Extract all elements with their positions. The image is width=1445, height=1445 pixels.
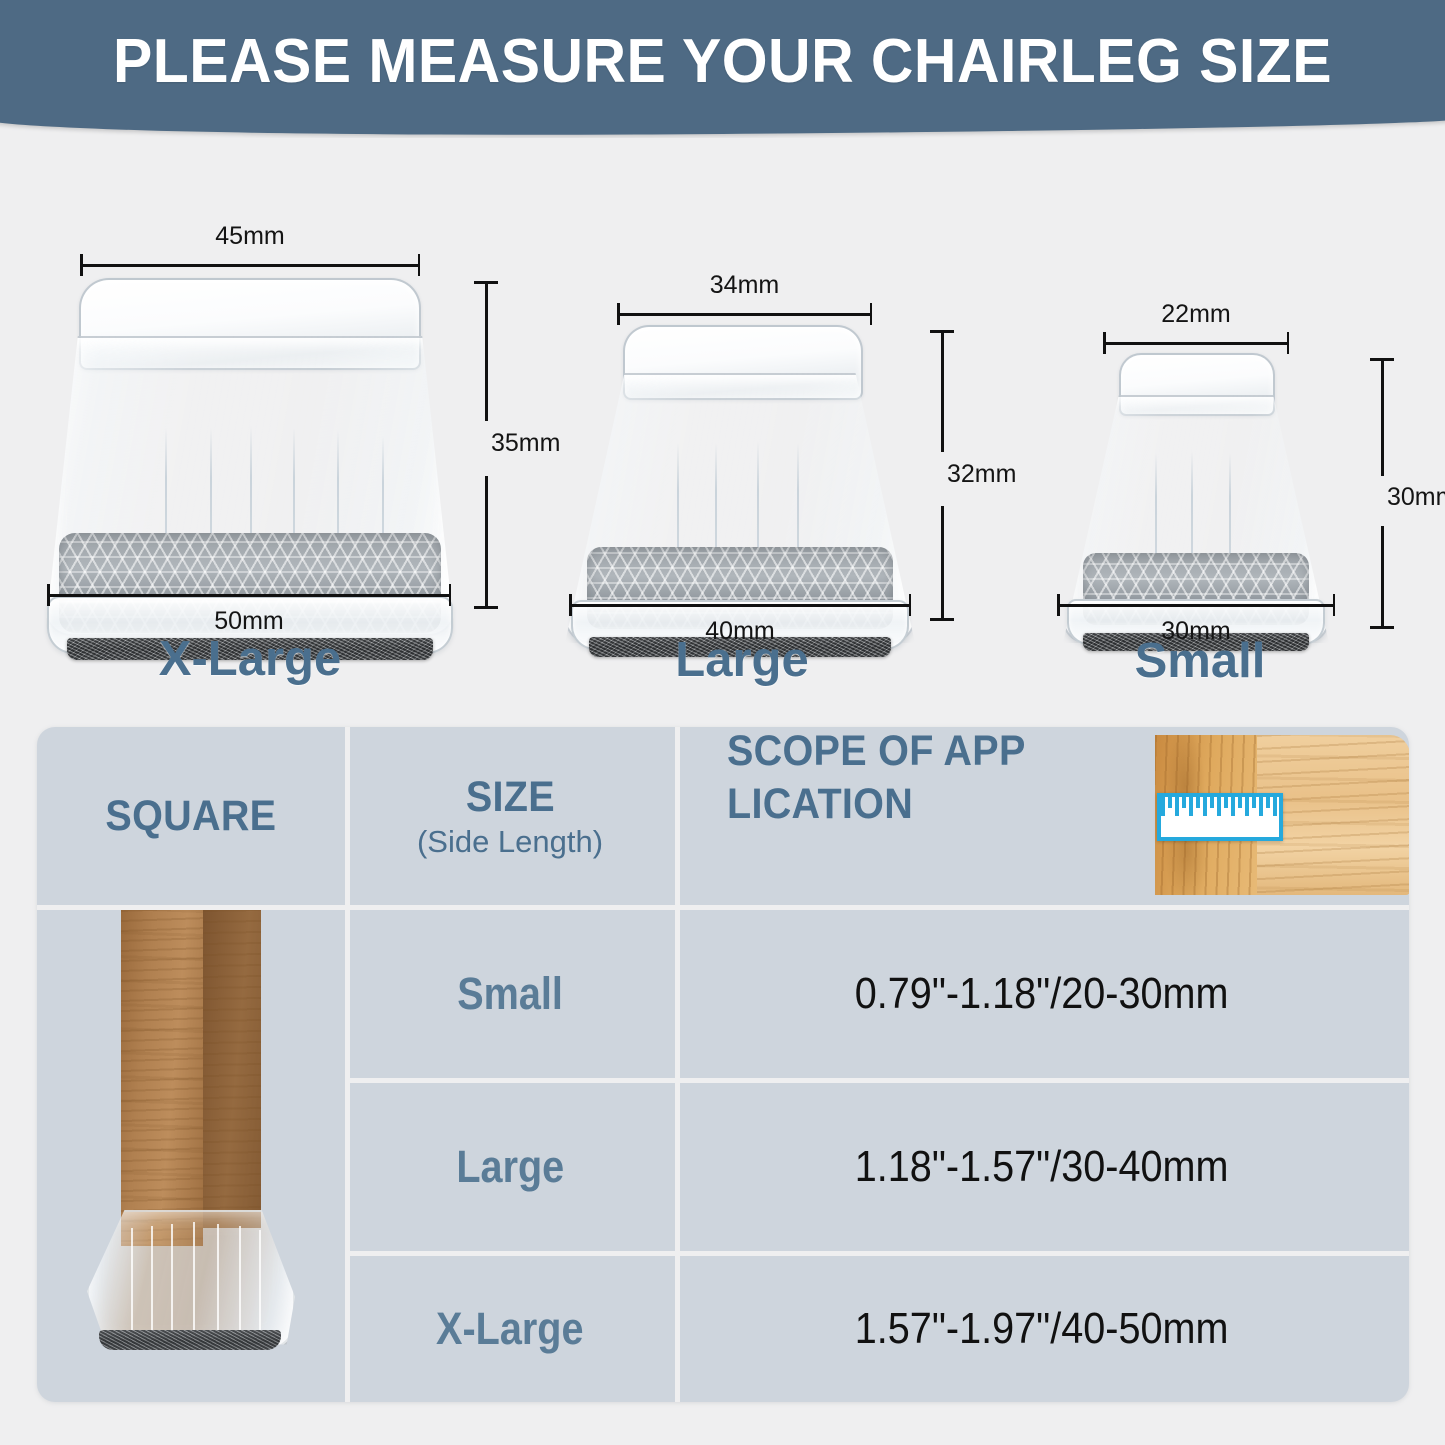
dimension-label-height: 30mm (1387, 483, 1445, 512)
dimension-line-lower (941, 506, 944, 620)
row-separator-2 (345, 1251, 1409, 1256)
dimension-cap-right (418, 254, 421, 276)
row-cell-size: X-Large (345, 1256, 675, 1402)
dimension-cap-right (1333, 594, 1336, 616)
dimension-line (617, 313, 872, 316)
row-cell-size: Small (345, 910, 675, 1078)
infographic-page: PLEASE MEASURE YOUR CHAIRLEG SIZE 45mm (0, 0, 1445, 1445)
dimension-label-top: 34mm (617, 271, 872, 300)
row-cell-scope: 1.18"-1.57"/30-40mm (675, 1083, 1409, 1251)
dimension-line (47, 594, 451, 597)
wooden-beam-icon (1155, 735, 1409, 895)
dimension-line (1057, 604, 1335, 607)
dimension-cap-right (1287, 332, 1290, 354)
dimension-line-lower (1381, 526, 1384, 628)
product-small: 22mm 30mm (1035, 263, 1445, 713)
ruler-icon (1157, 793, 1283, 841)
row-cell-scope: 1.57"-1.97"/40-50mm (675, 1256, 1409, 1402)
product-showcase: 45mm (0, 138, 1445, 718)
chair-leg-felt-pad (99, 1330, 281, 1350)
chair-leg-illustration (79, 910, 307, 1402)
dimension-label-top: 45mm (80, 222, 420, 251)
dimension-height-small: 30mm (1365, 358, 1399, 628)
header-scope-label-line2: LICATION (727, 780, 913, 829)
product-x-large: 45mm (35, 183, 535, 703)
header-shape-label: SQUARE (106, 792, 277, 841)
chair-leg-cap-ribs (89, 1212, 293, 1348)
dimension-cap-right (449, 584, 452, 606)
dimension-cap-right (870, 303, 873, 325)
product-label-small: Small (1035, 633, 1365, 689)
column-separator-2 (675, 727, 680, 1402)
product-label-x-large: X-Large (10, 631, 490, 687)
dimension-line-upper (485, 281, 488, 421)
row-scope-label: 0.79"-1.18"/20-30mm (855, 969, 1229, 1019)
dimension-height-x-large: 35mm (469, 281, 503, 609)
dimension-bottom-large: 40mm (569, 593, 911, 617)
dimension-line (569, 604, 911, 607)
row-scope-label: 1.57"-1.97"/40-50mm (855, 1304, 1229, 1354)
header-cell-size: SIZE (Side Length) (345, 727, 675, 905)
dimension-cap-bottom (930, 618, 954, 621)
header-size-label: SIZE (465, 773, 554, 822)
spec-table: SQUARE SIZE (Side Length) SCOPE OF APP L… (37, 727, 1409, 1402)
dimension-cap-bottom (1370, 626, 1394, 629)
product-label-large: Large (537, 632, 947, 688)
row-cell-scope: 0.79"-1.18"/20-30mm (675, 910, 1409, 1078)
column-separator-1 (345, 727, 350, 1402)
dimension-label-height: 35mm (491, 429, 560, 458)
dimension-bottom-small: 30mm (1057, 593, 1335, 617)
dimension-line-upper (941, 330, 944, 452)
page-title: PLEASE MEASURE YOUR CHAIRLEG SIZE (36, 0, 1409, 122)
header-size-sublabel: (Side Length) (417, 824, 603, 860)
dimension-line-upper (1381, 358, 1384, 476)
dimension-top-x-large: 45mm (80, 253, 420, 277)
header-scope-label-line1: SCOPE OF APP (727, 727, 1026, 776)
dimension-top-small: 22mm (1103, 331, 1289, 355)
header-banner: PLEASE MEASURE YOUR CHAIRLEG SIZE (0, 0, 1445, 138)
row-scope-label: 1.18"-1.57"/30-40mm (855, 1142, 1229, 1192)
chair-leg-cap (87, 1210, 295, 1350)
row-size-label: Large (456, 1141, 564, 1193)
dimension-label-top: 22mm (1103, 300, 1289, 329)
product-large: 34mm 40mm (555, 230, 1025, 710)
dimension-line (1103, 342, 1289, 345)
dimension-label-height: 32mm (947, 460, 1016, 489)
dimension-top-large: 34mm (617, 302, 872, 326)
ruler-ticks-short (1161, 797, 1279, 808)
chair-leg-front-face (121, 910, 203, 1246)
row-cell-size: Large (345, 1083, 675, 1251)
row-size-label: Small (457, 968, 563, 1020)
header-cell-shape: SQUARE (37, 727, 345, 905)
dimension-bottom-x-large: 50mm (47, 583, 451, 607)
dimension-height-large: 32mm (925, 330, 959, 620)
row-size-label: X-Large (436, 1303, 583, 1355)
chair-leg-side-face (203, 910, 261, 1228)
dimension-line-lower (485, 476, 488, 609)
dimension-line (80, 264, 420, 267)
dimension-cap-bottom (474, 606, 498, 609)
row-separator-1 (345, 1078, 1409, 1083)
dimension-cap-right (909, 594, 912, 616)
